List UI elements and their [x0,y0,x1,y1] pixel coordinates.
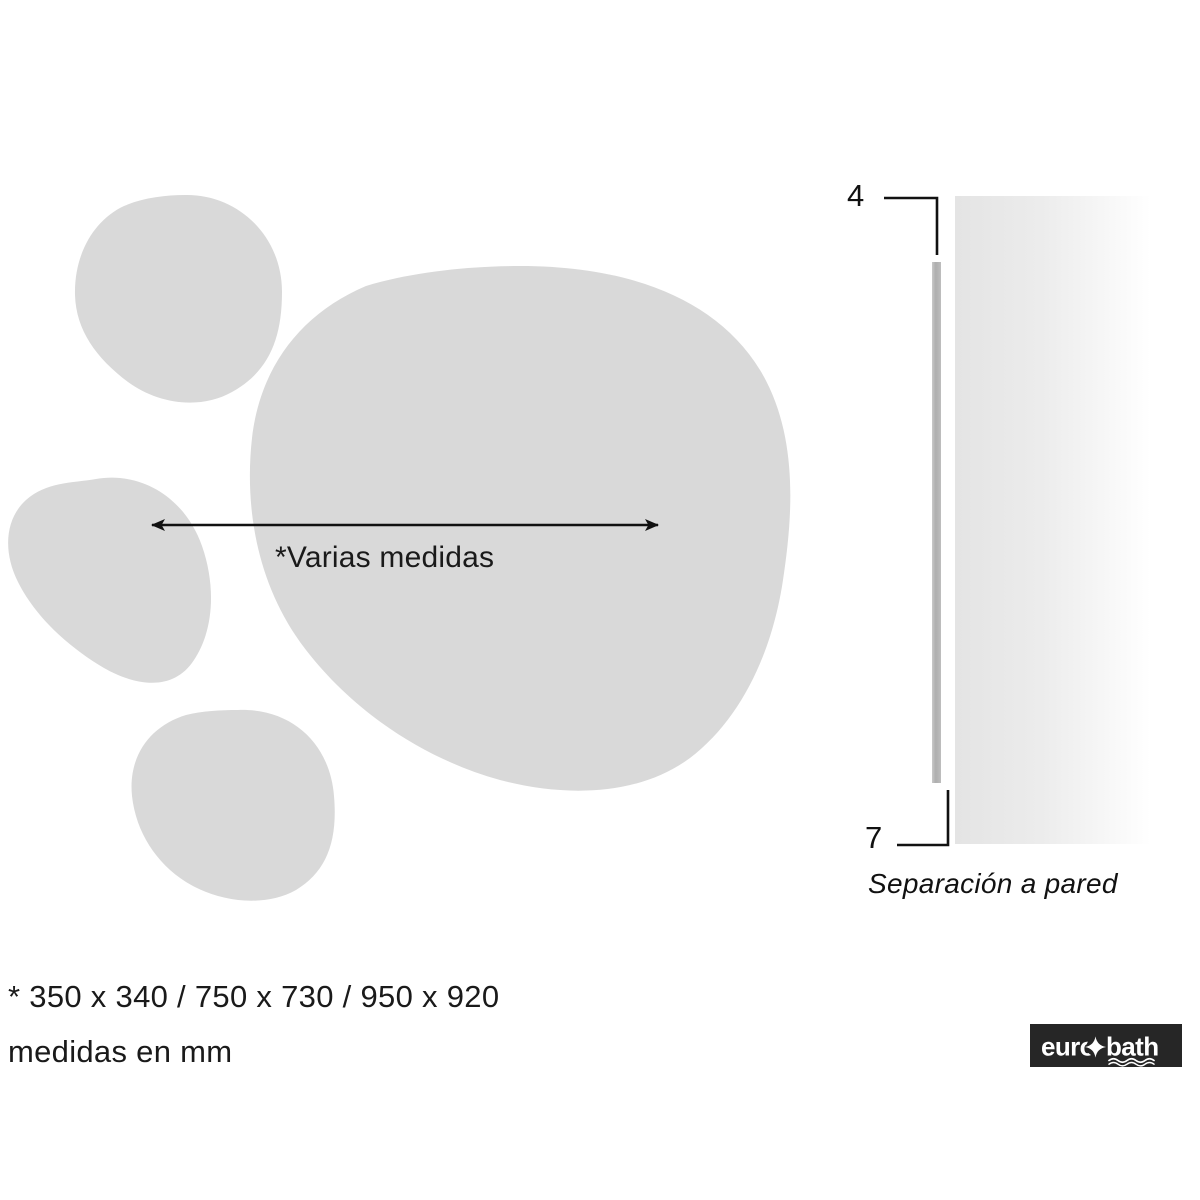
diagram-canvas: *Varias medidas 4 7 Separación a pared *… [0,0,1200,1200]
dimension-value-wall-gap: 7 [865,822,882,853]
wall-panel [955,196,1200,844]
pebble-bottom-left [132,710,335,901]
footnote-sizes: * 350 x 340 / 750 x 730 / 950 x 920 [8,981,499,1012]
footnote-units: medidas en mm [8,1036,232,1067]
logo-text-bath: bath [1106,1032,1158,1062]
pebble-center-large [250,266,790,791]
dimension-arrow-label: *Varias medidas [275,543,494,573]
pebble-mid-left [8,478,211,683]
leader-line-4 [884,198,937,255]
pebble-top-left [75,195,282,403]
wall-section-group [884,196,1200,845]
section-view-caption: Separación a pared [868,870,1118,898]
diagram-artwork [0,0,1200,1200]
brand-logo: euro bath [1030,1024,1182,1067]
eurobath-logo-mark: euro bath [1030,1024,1182,1067]
leader-line-7 [897,790,948,845]
mirror-edge [932,262,941,783]
dimension-value-mirror-thickness: 4 [847,180,864,211]
